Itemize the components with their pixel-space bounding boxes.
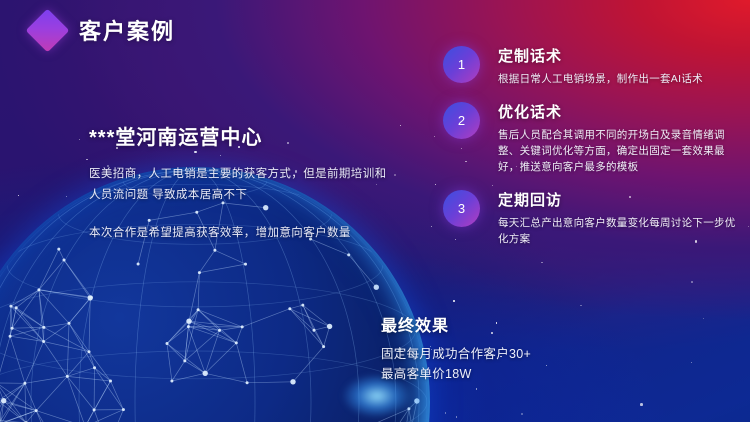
case-title: ***堂河南运营中心 bbox=[89, 121, 389, 150]
step-text-2: 优化话术 售后人员配合其调用不同的开场白及录音情绪调整、关键词优化等方面，确定出… bbox=[498, 100, 738, 175]
step-number: 3 bbox=[458, 201, 465, 216]
case-description-block: ***堂河南运营中心 医美招商，人工电销是主要的获客方式，但是前期培训和人员流问… bbox=[89, 121, 389, 244]
step-badge-2: 2 bbox=[443, 102, 480, 139]
step-title: 优化话术 bbox=[498, 101, 738, 122]
step-number: 1 bbox=[458, 57, 465, 72]
step-desc: 售后人员配合其调用不同的开场白及录音情绪调整、关键词优化等方面，确定出固定一套效… bbox=[498, 127, 738, 175]
step-badge-3: 3 bbox=[443, 190, 480, 227]
list-item: 2 优化话术 售后人员配合其调用不同的开场白及录音情绪调整、关键词优化等方面，确… bbox=[443, 100, 738, 175]
list-item: 3 定期回访 每天汇总产出意向客户数量变化每周讨论下一步优化方案 bbox=[443, 188, 738, 247]
step-desc: 根据日常人工电销场景，制作出一套AI话术 bbox=[498, 71, 703, 87]
result-line-1: 固定每月成功合作客户30+ bbox=[381, 344, 531, 364]
slide-canvas: 客户案例 ***堂河南运营中心 医美招商，人工电销是主要的获客方式，但是前期培训… bbox=[0, 0, 750, 422]
page-title: 客户案例 bbox=[79, 14, 175, 46]
slide-header: 客户案例 bbox=[32, 14, 175, 46]
result-line-2: 最高客单价18W bbox=[381, 364, 531, 384]
step-text-3: 定期回访 每天汇总产出意向客户数量变化每周讨论下一步优化方案 bbox=[498, 188, 738, 247]
step-text-1: 定制话术 根据日常人工电销场景，制作出一套AI话术 bbox=[498, 44, 703, 87]
case-paragraph-1: 医美招商，人工电销是主要的获客方式，但是前期培训和人员流问题 导致成本居高不下 bbox=[89, 164, 389, 206]
result-block: 最终效果 固定每月成功合作客户30+ 最高客单价18W bbox=[381, 312, 531, 384]
step-desc: 每天汇总产出意向客户数量变化每周讨论下一步优化方案 bbox=[498, 215, 738, 247]
result-title: 最终效果 bbox=[381, 312, 531, 336]
step-title: 定制话术 bbox=[498, 45, 703, 66]
step-badge-1: 1 bbox=[443, 46, 480, 83]
list-item: 1 定制话术 根据日常人工电销场景，制作出一套AI话术 bbox=[443, 44, 738, 87]
step-number: 2 bbox=[458, 113, 465, 128]
diamond-icon bbox=[26, 8, 70, 52]
steps-list: 1 定制话术 根据日常人工电销场景，制作出一套AI话术 2 优化话术 售后人员配… bbox=[443, 44, 738, 260]
step-title: 定期回访 bbox=[498, 189, 738, 210]
case-paragraph-2: 本次合作是希望提高获客效率，增加意向客户数量 bbox=[89, 223, 389, 244]
